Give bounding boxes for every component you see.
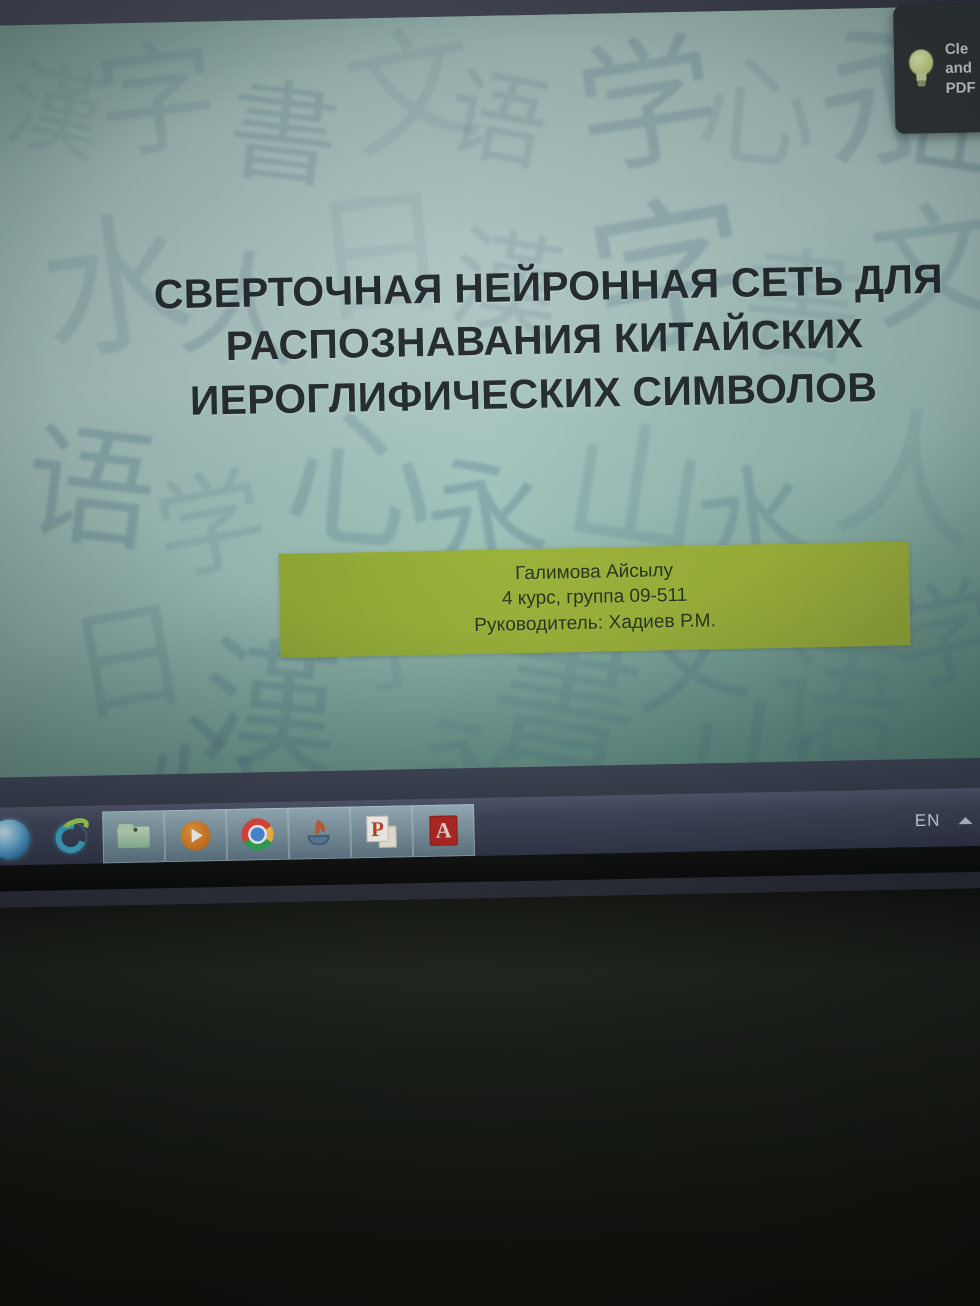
powerpoint-icon: P	[366, 816, 397, 849]
room-background	[0, 880, 980, 1306]
watermark-glyph: 语	[18, 417, 163, 562]
watermark-glyph: 書	[222, 74, 344, 196]
tooltip-line-3: PDF	[945, 78, 975, 98]
presentation-slide: 漢字書文语学心永山水人日漢字書文语学心永山水人日漢字書文语学心永山 СВЕРТО…	[0, 5, 980, 786]
folder-icon	[117, 824, 150, 851]
acrobat-icon: A	[429, 815, 458, 846]
taskbar-item-google-chrome[interactable]	[226, 808, 289, 861]
start-orb-icon	[0, 819, 30, 860]
tooltip-line-2: and	[945, 59, 975, 79]
tooltip-text: Cle and PDF	[945, 39, 976, 98]
slide-title: СВЕРТОЧНАЯ НЕЙРОННАЯ СЕТЬ ДЛЯ РАСПОЗНАВА…	[0, 251, 980, 432]
internet-explorer-icon	[52, 821, 91, 856]
system-tray: EN	[914, 787, 980, 853]
watermark-glyph: 心	[279, 402, 441, 564]
language-indicator[interactable]: EN	[915, 811, 941, 832]
chrome-icon	[241, 818, 274, 851]
taskbar-item-powerpoint[interactable]: P	[350, 805, 413, 858]
author-info-box: Галимова Айсылу 4 курс, группа 09-511 Ру…	[279, 541, 911, 658]
taskbar-item-adobe-acrobat[interactable]: A	[412, 804, 475, 857]
java-icon	[304, 818, 335, 849]
screenshot-root: 漢字書文语学心永山水人日漢字書文语学心永山水人日漢字書文语学心永山 СВЕРТО…	[0, 0, 980, 1306]
watermark-glyph: 心	[693, 50, 823, 180]
watermark-glyph: 学	[146, 462, 275, 591]
lightbulb-icon	[906, 49, 937, 90]
show-hidden-icons-icon[interactable]	[958, 817, 972, 824]
taskbar-item-java[interactable]	[288, 806, 351, 859]
watermark-glyph: 字	[91, 35, 225, 169]
slide-canvas: 漢字書文语学心永山水人日漢字書文语学心永山水人日漢字書文语学心永山 СВЕРТО…	[0, 5, 980, 786]
watermark-glyph: 人	[826, 398, 980, 561]
media-player-icon	[180, 820, 211, 851]
notification-tooltip[interactable]: Cle and PDF	[893, 3, 980, 134]
taskbar-item-media-player[interactable]	[164, 809, 227, 862]
taskbar-item-start[interactable]	[0, 813, 41, 866]
watermark-glyph: 语	[439, 62, 556, 179]
taskbar-item-windows-explorer[interactable]	[102, 810, 165, 863]
tooltip-line-1: Cle	[945, 39, 975, 59]
taskbar-item-internet-explorer[interactable]	[40, 811, 103, 864]
